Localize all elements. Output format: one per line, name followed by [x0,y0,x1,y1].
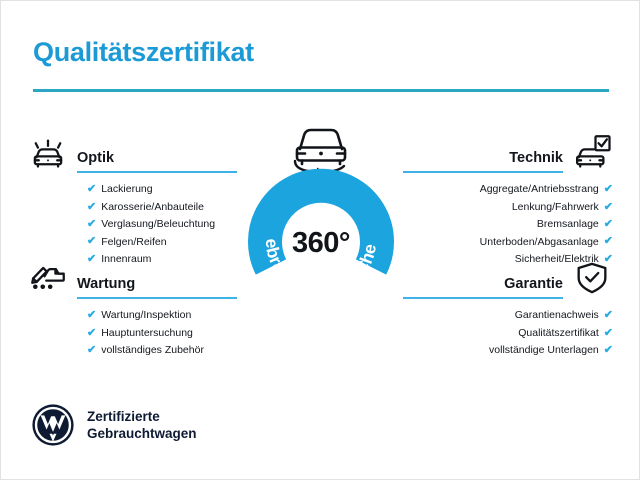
footer-line-1: Zertifizierte [87,408,197,425]
footer-branding: Zertifizierte Gebrauchtwagen [31,403,197,447]
check-icon: ✔ [87,184,96,195]
list-item-label: Karosserie/Anbauteile [101,202,204,213]
section-garantie-underline [403,297,563,299]
shield-check-icon [571,257,613,299]
list-item-label: Unterboden/Abgasanlage [480,237,599,248]
list-item: ✔Aggregate/Antriebsstrang [403,181,613,198]
list-item: ✔Lenkung/Fahrwerk [403,198,613,215]
list-item: ✔Karosserie/Anbauteile [27,198,237,215]
section-garantie-title: Garantie [403,277,563,297]
pen-car-service-icon [27,257,69,299]
check-icon: ✔ [604,345,613,356]
list-item-label: Garantienachweis [515,310,599,321]
list-item: ✔Qualitätszertifikat [403,324,613,341]
section-wartung-underline [77,297,237,299]
list-item: ✔Unterboden/Abgasanlage [403,233,613,250]
list-item-label: Qualitätszertifikat [518,328,599,339]
title-divider [33,89,609,92]
gebrauchtwagen-check-badge: Gebrauchtwagen-Check 360° [233,119,409,319]
list-item-label: Lenkung/Fahrwerk [512,202,599,213]
list-item: ✔Wartung/Inspektion [27,307,237,324]
list-item: ✔Garantienachweis [403,307,613,324]
list-item: ✔Lackierung [27,181,237,198]
badge-center-label: 360° [292,227,350,260]
section-garantie-header: Garantie [403,255,613,299]
section-wartung-list: ✔Wartung/Inspektion ✔Hauptuntersuchung ✔… [27,307,237,359]
list-item-label: Aggregate/Antriebsstrang [480,184,599,195]
check-icon: ✔ [87,236,96,247]
car-shine-icon [27,131,69,173]
list-item: ✔vollständiges Zubehör [27,342,237,359]
list-item-label: Hauptuntersuchung [101,328,193,339]
check-icon: ✔ [87,345,96,356]
volkswagen-logo [31,403,75,447]
footer-line-2: Gebrauchtwagen [87,425,197,442]
section-optik-title: Optik [77,151,237,171]
page-title: Qualitätszertifikat [33,37,254,68]
section-optik-header: Optik [27,129,237,173]
check-icon: ✔ [604,328,613,339]
list-item: ✔Bremsanlage [403,216,613,233]
check-icon: ✔ [87,310,96,321]
list-item-label: Verglasung/Beleuchtung [101,219,215,230]
check-icon: ✔ [87,219,96,230]
check-icon: ✔ [87,328,96,339]
check-icon: ✔ [87,202,96,213]
list-item-label: vollständige Unterlagen [489,345,599,356]
section-wartung-header: Wartung [27,255,237,299]
check-icon: ✔ [604,236,613,247]
list-item: ✔Verglasung/Beleuchtung [27,216,237,233]
section-technik-title: Technik [403,151,563,171]
check-icon: ✔ [604,310,613,321]
section-optik-underline [77,171,237,173]
list-item-label: Felgen/Reifen [101,237,166,248]
section-technik: Technik ✔Aggregate/Antriebsstrang ✔Lenku… [403,129,613,268]
list-item-label: vollständiges Zubehör [101,345,204,356]
check-icon: ✔ [604,184,613,195]
qualitaetszertifikat-page: Qualitätszertifikat Optik [0,0,640,480]
list-item-label: Wartung/Inspektion [101,310,191,321]
section-garantie-list: ✔Garantienachweis ✔Qualitätszertifikat ✔… [403,307,613,359]
list-item: ✔vollständige Unterlagen [403,342,613,359]
section-wartung-title: Wartung [77,277,237,297]
footer-text: Zertifizierte Gebrauchtwagen [87,408,197,443]
list-item-label: Lackierung [101,184,152,195]
car-checkbox-icon [571,131,613,173]
section-garantie: Garantie ✔Garantienachweis ✔Qualitätszer… [403,255,613,359]
section-technik-underline [403,171,563,173]
list-item: ✔Felgen/Reifen [27,233,237,250]
list-item-label: Bremsanlage [537,219,599,230]
list-item: ✔Hauptuntersuchung [27,324,237,341]
section-wartung: Wartung ✔Wartung/Inspektion ✔Hauptunters… [27,255,237,359]
section-optik: Optik ✔Lackierung ✔Karosserie/Anbauteile… [27,129,237,268]
section-technik-header: Technik [403,129,613,173]
check-icon: ✔ [604,219,613,230]
check-icon: ✔ [604,202,613,213]
